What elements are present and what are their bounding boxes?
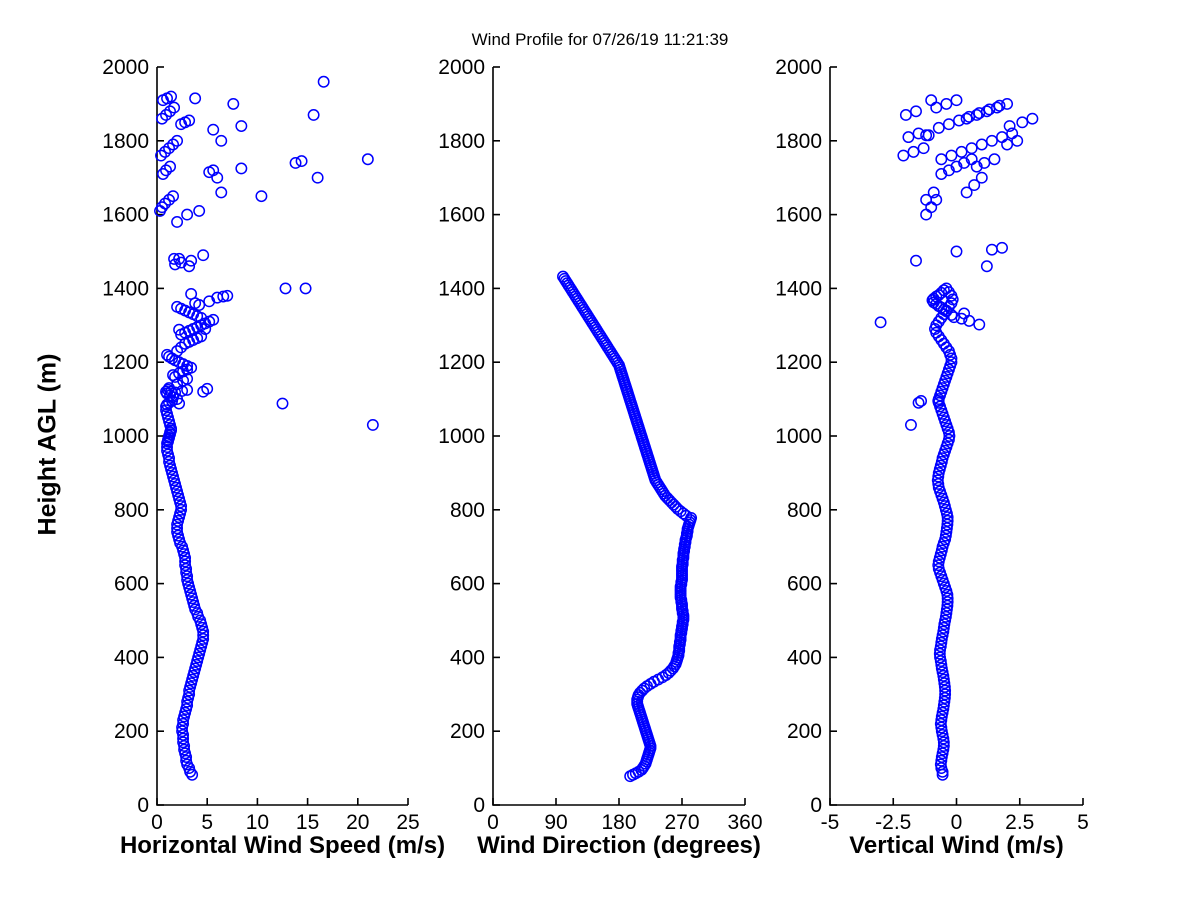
data-point bbox=[992, 102, 1002, 112]
x-tick-label: 25 bbox=[396, 811, 419, 834]
x-tick-label: 360 bbox=[727, 811, 762, 834]
plot-canvas: 0200400600800100012001400160018002000051… bbox=[0, 0, 1200, 900]
y-tick-label: 200 bbox=[450, 720, 485, 743]
y-tick-label: 0 bbox=[137, 794, 149, 817]
data-point bbox=[951, 95, 961, 105]
data-point bbox=[216, 136, 226, 146]
data-point bbox=[972, 110, 982, 120]
data-point bbox=[987, 136, 997, 146]
y-tick-label: 1400 bbox=[775, 277, 822, 300]
x-tick-label: -5 bbox=[821, 811, 840, 834]
data-point bbox=[918, 143, 928, 153]
data-point bbox=[312, 173, 322, 183]
x-tick-label: 0 bbox=[951, 811, 963, 834]
data-point bbox=[1027, 113, 1037, 123]
data-point bbox=[954, 115, 964, 125]
data-point bbox=[290, 158, 300, 168]
y-tick-label: 800 bbox=[114, 499, 149, 522]
y-tick-label: 2000 bbox=[775, 56, 822, 79]
data-point bbox=[956, 147, 966, 157]
data-point bbox=[941, 99, 951, 109]
data-point bbox=[974, 319, 984, 329]
data-point bbox=[1002, 99, 1012, 109]
y-tick-label: 1800 bbox=[102, 130, 149, 153]
data-point bbox=[989, 154, 999, 164]
data-point bbox=[363, 154, 373, 164]
panel-2-data-series bbox=[558, 271, 697, 781]
data-point bbox=[921, 209, 931, 219]
y-tick-label: 800 bbox=[450, 499, 485, 522]
x-tick-label: 10 bbox=[246, 811, 269, 834]
data-point bbox=[198, 250, 208, 260]
y-tick-label: 800 bbox=[787, 499, 822, 522]
x-tick-label: 180 bbox=[601, 811, 636, 834]
data-point bbox=[903, 132, 913, 142]
data-point bbox=[308, 110, 318, 120]
data-point bbox=[961, 113, 971, 123]
data-point bbox=[204, 167, 214, 177]
x-tick-label: 20 bbox=[346, 811, 369, 834]
data-point bbox=[190, 93, 200, 103]
data-point bbox=[966, 143, 976, 153]
y-tick-label: 400 bbox=[787, 646, 822, 669]
data-point bbox=[208, 125, 218, 135]
data-point bbox=[280, 283, 290, 293]
data-point bbox=[926, 202, 936, 212]
y-tick-label: 1400 bbox=[102, 277, 149, 300]
data-point bbox=[931, 102, 941, 112]
data-point bbox=[300, 283, 310, 293]
x-tick-label: 0 bbox=[487, 811, 499, 834]
y-tick-label: 200 bbox=[114, 720, 149, 743]
data-point bbox=[987, 244, 997, 254]
data-point bbox=[368, 420, 378, 430]
data-point bbox=[901, 110, 911, 120]
panel-2-axes bbox=[493, 67, 745, 805]
y-tick-label: 2000 bbox=[438, 56, 485, 79]
data-point bbox=[997, 243, 1007, 253]
data-point bbox=[1017, 117, 1027, 127]
data-point bbox=[936, 154, 946, 164]
y-tick-label: 1400 bbox=[438, 277, 485, 300]
panel-3: 0200400600800100012001400160018002000-5-… bbox=[775, 56, 1089, 834]
y-tick-label: 400 bbox=[114, 646, 149, 669]
data-point bbox=[277, 398, 287, 408]
y-tick-label: 2000 bbox=[102, 56, 149, 79]
y-tick-label: 1600 bbox=[438, 204, 485, 227]
wind-profile-figure: Wind Profile for 07/26/19 11:21:39 Heigh… bbox=[0, 0, 1200, 900]
data-point bbox=[997, 132, 1007, 142]
data-point bbox=[921, 130, 931, 140]
x-tick-label: 5 bbox=[201, 811, 213, 834]
data-point bbox=[911, 106, 921, 116]
data-point bbox=[923, 130, 933, 140]
data-point bbox=[296, 156, 306, 166]
data-point bbox=[318, 77, 328, 87]
y-tick-label: 0 bbox=[473, 794, 485, 817]
data-point bbox=[946, 150, 956, 160]
panel-3-data-series bbox=[875, 95, 1037, 780]
x-tick-label: 2.5 bbox=[1005, 811, 1034, 834]
data-point bbox=[194, 206, 204, 216]
data-point bbox=[926, 95, 936, 105]
data-point bbox=[913, 398, 923, 408]
y-tick-label: 400 bbox=[450, 646, 485, 669]
y-tick-label: 1000 bbox=[102, 425, 149, 448]
data-point bbox=[236, 163, 246, 173]
panel-2: 0200400600800100012001400160018002000090… bbox=[438, 56, 762, 834]
data-point bbox=[951, 246, 961, 256]
x-tick-label: -2.5 bbox=[875, 811, 911, 834]
panel-3-axes bbox=[830, 67, 1083, 805]
data-point bbox=[172, 217, 182, 227]
y-tick-label: 600 bbox=[114, 573, 149, 596]
y-tick-label: 200 bbox=[787, 720, 822, 743]
y-tick-label: 1800 bbox=[775, 130, 822, 153]
y-tick-label: 1000 bbox=[438, 425, 485, 448]
data-point bbox=[1002, 139, 1012, 149]
y-tick-label: 600 bbox=[787, 573, 822, 596]
data-point bbox=[977, 173, 987, 183]
y-tick-label: 600 bbox=[450, 573, 485, 596]
y-tick-label: 1800 bbox=[438, 130, 485, 153]
data-point bbox=[982, 106, 992, 116]
data-point bbox=[906, 420, 916, 430]
data-point bbox=[875, 317, 885, 327]
data-point bbox=[898, 150, 908, 160]
y-tick-label: 1200 bbox=[775, 351, 822, 374]
x-tick-label: 5 bbox=[1077, 811, 1089, 834]
panel-1: 0200400600800100012001400160018002000051… bbox=[102, 56, 419, 834]
data-point bbox=[228, 99, 238, 109]
data-point bbox=[911, 256, 921, 266]
data-point bbox=[913, 128, 923, 138]
data-point bbox=[1012, 136, 1022, 146]
y-tick-label: 1200 bbox=[102, 351, 149, 374]
data-point bbox=[182, 209, 192, 219]
data-point bbox=[934, 123, 944, 133]
data-point bbox=[256, 191, 266, 201]
data-point bbox=[977, 139, 987, 149]
panel-1-data-series bbox=[155, 77, 378, 780]
x-tick-label: 0 bbox=[151, 811, 163, 834]
x-tick-label: 90 bbox=[544, 811, 567, 834]
y-tick-label: 1600 bbox=[102, 204, 149, 227]
data-point bbox=[944, 119, 954, 129]
x-tick-label: 15 bbox=[296, 811, 319, 834]
y-tick-label: 1600 bbox=[775, 204, 822, 227]
y-tick-label: 1200 bbox=[438, 351, 485, 374]
data-point bbox=[186, 289, 196, 299]
data-point bbox=[982, 261, 992, 271]
data-point bbox=[216, 187, 226, 197]
y-tick-label: 1000 bbox=[775, 425, 822, 448]
data-point bbox=[236, 121, 246, 131]
data-point bbox=[908, 147, 918, 157]
x-tick-label: 270 bbox=[664, 811, 699, 834]
